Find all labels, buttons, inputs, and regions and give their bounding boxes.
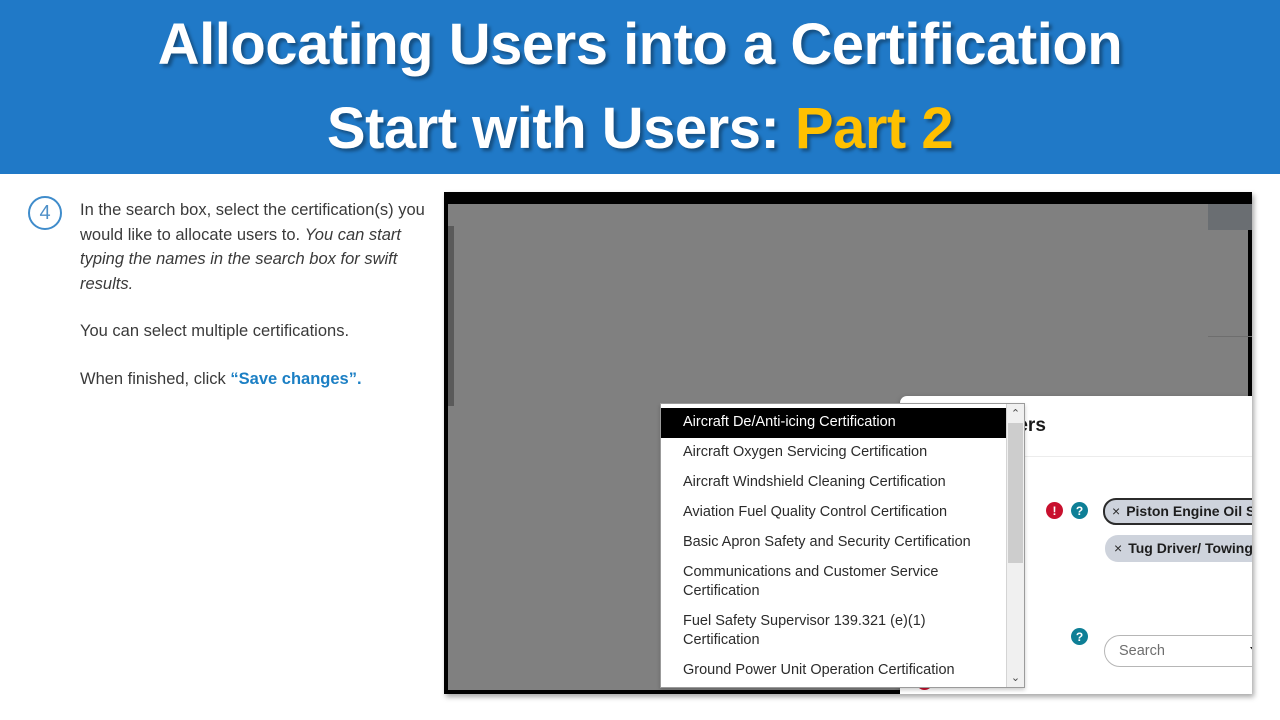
step-4-text: In the search box, select the certificat…: [80, 198, 438, 296]
dropdown-option[interactable]: Basic Apron Safety and Security Certific…: [661, 528, 1006, 558]
dropdown-option[interactable]: Communications and Customer Service Cert…: [661, 558, 963, 607]
certification-dropdown: Aircraft De/Anti-icing Certification Air…: [660, 403, 1025, 688]
instruction-paragraph-3: When finished, click “Save changes”.: [80, 367, 438, 392]
instruction-paragraph-2: You can select multiple certifications.: [80, 319, 438, 344]
banner-line-2: Start with Users: Part 2: [327, 87, 953, 171]
dropdown-option[interactable]: Aircraft De/Anti-icing Certification: [661, 408, 1006, 438]
selected-chip-2[interactable]: × Tug Driver/ Towing Certification: [1105, 535, 1252, 562]
required-icon: !: [1046, 502, 1063, 519]
dropdown-option[interactable]: Aircraft Oxygen Servicing Certification: [661, 438, 1006, 468]
scroll-up-icon[interactable]: ⌃: [1007, 405, 1024, 422]
selected-chip-1[interactable]: × Piston Engine Oil Servicing Certificat…: [1103, 498, 1252, 525]
background-table-header: [1208, 204, 1252, 230]
background-scrollbar[interactable]: [448, 226, 454, 406]
chip-label: Piston Engine Oil Servicing Certificatio…: [1126, 503, 1252, 519]
banner-line-2-main: Start with Users:: [327, 96, 795, 161]
instruction-panel: 4 In the search box, select the certific…: [28, 198, 438, 391]
background-table-row: [1208, 336, 1252, 337]
banner-line-2-accent: Part 2: [795, 96, 953, 161]
title-banner: Allocating Users into a Certification St…: [0, 0, 1280, 174]
help-icon[interactable]: ?: [1071, 502, 1088, 519]
chevron-down-icon[interactable]: [1250, 647, 1252, 657]
dropdown-option[interactable]: Fuel Safety Supervisor 139.321 (e)(1) Ce…: [661, 607, 943, 656]
scrollbar-thumb[interactable]: [1008, 423, 1023, 563]
dropdown-option[interactable]: Ground Power Unit Operation Certificatio…: [661, 656, 1006, 686]
banner-line-1: Allocating Users into a Certification: [158, 3, 1122, 87]
instruction-save-emphasis: “Save changes”.: [230, 370, 361, 388]
dropdown-option[interactable]: Aviation Fuel Quality Control Certificat…: [661, 498, 1006, 528]
step-number-badge: 4: [28, 196, 62, 230]
chip-remove-icon[interactable]: ×: [1112, 503, 1120, 519]
help-icon[interactable]: ?: [1071, 628, 1088, 645]
chip-remove-icon[interactable]: ×: [1114, 540, 1122, 556]
dropdown-option[interactable]: Aircraft Windshield Cleaning Certificati…: [661, 468, 1006, 498]
dropdown-option-list: Aircraft De/Anti-icing Certification Air…: [661, 404, 1006, 687]
chip-label: Tug Driver/ Towing Certification: [1128, 540, 1252, 556]
search-input[interactable]: Search: [1104, 635, 1252, 667]
scroll-down-icon[interactable]: ⌄: [1007, 669, 1024, 686]
search-placeholder: Search: [1119, 643, 1165, 659]
dropdown-scrollbar[interactable]: ⌃ ⌄: [1006, 404, 1024, 687]
step-4: 4 In the search box, select the certific…: [28, 198, 438, 296]
instruction-paragraph-3-prefix: When finished, click: [80, 370, 230, 388]
